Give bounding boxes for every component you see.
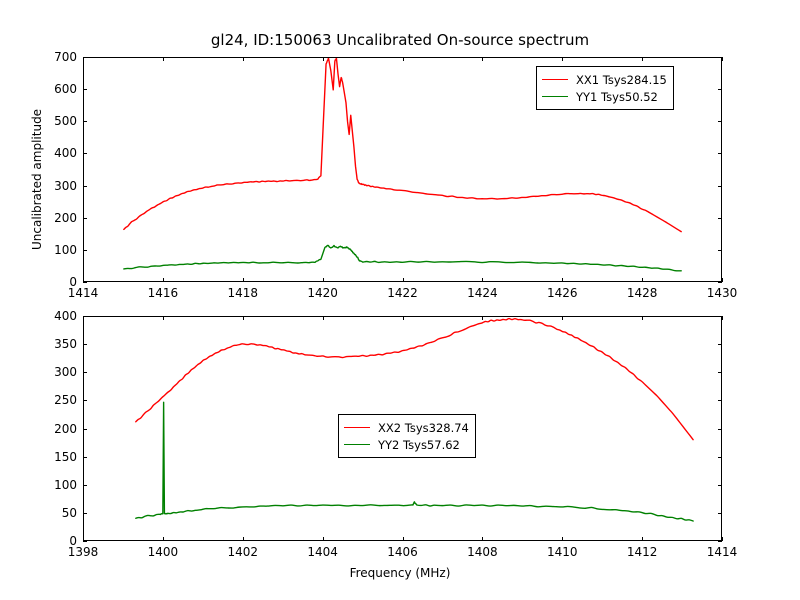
y-tick-mark <box>83 218 87 219</box>
y-tick-mark <box>718 282 722 283</box>
x-tick-label: 1418 <box>227 286 258 300</box>
y-axis-label: Uncalibrated amplitude <box>30 109 44 250</box>
x-tick-mark <box>243 537 244 541</box>
x-tick-label: 1398 <box>68 545 99 559</box>
x-tick-mark <box>722 278 723 282</box>
legend-label-yy2: YY2 Tsys57.62 <box>378 438 460 452</box>
y-tick-mark <box>718 121 722 122</box>
x-tick-label: 1410 <box>547 545 578 559</box>
y-tick-mark <box>718 429 722 430</box>
top-legend: XX1 Tsys284.15 YY1 Tsys50.52 <box>536 66 674 110</box>
x-tick-label: 1430 <box>707 286 738 300</box>
x-tick-mark <box>163 537 164 541</box>
series-line-yy1 <box>124 245 681 270</box>
y-tick-label: 100 <box>54 243 77 257</box>
x-tick-mark <box>83 316 84 320</box>
x-tick-mark <box>403 316 404 320</box>
legend-entry: YY1 Tsys50.52 <box>542 88 667 105</box>
x-tick-mark <box>482 278 483 282</box>
legend-line-swatch-xx1 <box>542 79 568 80</box>
legend-label-xx1: XX1 Tsys284.15 <box>576 73 667 87</box>
y-tick-mark <box>83 372 87 373</box>
y-tick-mark <box>718 218 722 219</box>
x-tick-label: 1402 <box>227 545 258 559</box>
x-tick-mark <box>163 316 164 320</box>
spectrum-figure: gl24, ID:150063 Uncalibrated On-source s… <box>0 0 800 600</box>
x-tick-mark <box>482 537 483 541</box>
x-tick-mark <box>722 57 723 61</box>
x-tick-mark <box>243 57 244 61</box>
x-axis-label: Frequency (MHz) <box>0 566 800 580</box>
y-tick-mark <box>83 429 87 430</box>
x-tick-mark <box>323 537 324 541</box>
y-tick-mark <box>83 89 87 90</box>
x-tick-mark <box>722 537 723 541</box>
x-tick-label: 1426 <box>547 286 578 300</box>
y-tick-mark <box>83 541 87 542</box>
y-tick-mark <box>718 513 722 514</box>
y-tick-mark <box>718 250 722 251</box>
x-tick-mark <box>163 278 164 282</box>
y-tick-mark <box>83 400 87 401</box>
x-tick-label: 1406 <box>387 545 418 559</box>
x-tick-mark <box>83 537 84 541</box>
y-tick-mark <box>83 513 87 514</box>
y-tick-label: 350 <box>54 337 77 351</box>
legend-entry: XX2 Tsys328.74 <box>344 419 469 436</box>
x-tick-mark <box>83 278 84 282</box>
x-tick-mark <box>482 316 483 320</box>
x-tick-label: 1404 <box>307 545 338 559</box>
y-tick-mark <box>718 485 722 486</box>
x-tick-mark <box>642 537 643 541</box>
x-tick-mark <box>243 278 244 282</box>
x-tick-mark <box>163 57 164 61</box>
y-tick-mark <box>83 457 87 458</box>
bottom-legend: XX2 Tsys328.74 YY2 Tsys57.62 <box>338 414 476 458</box>
x-tick-label: 1414 <box>707 545 738 559</box>
y-tick-mark <box>718 400 722 401</box>
y-tick-label: 600 <box>54 82 77 96</box>
y-tick-mark <box>83 485 87 486</box>
x-tick-mark <box>323 278 324 282</box>
y-tick-label: 400 <box>54 146 77 160</box>
x-tick-mark <box>323 57 324 61</box>
x-tick-mark <box>562 57 563 61</box>
y-tick-label: 400 <box>54 309 77 323</box>
legend-line-swatch-xx2 <box>344 427 370 428</box>
x-tick-mark <box>642 316 643 320</box>
x-tick-mark <box>403 537 404 541</box>
y-tick-mark <box>83 282 87 283</box>
y-tick-label: 700 <box>54 50 77 64</box>
x-tick-mark <box>323 316 324 320</box>
x-tick-mark <box>243 316 244 320</box>
y-tick-label: 150 <box>54 450 77 464</box>
legend-label-xx2: XX2 Tsys328.74 <box>378 421 469 435</box>
x-tick-mark <box>562 316 563 320</box>
x-tick-label: 1412 <box>627 545 658 559</box>
y-tick-mark <box>718 344 722 345</box>
x-tick-mark <box>83 57 84 61</box>
y-tick-mark <box>718 372 722 373</box>
figure-title: gl24, ID:150063 Uncalibrated On-source s… <box>0 31 800 49</box>
y-tick-label: 100 <box>54 478 77 492</box>
legend-entry: YY2 Tsys57.62 <box>344 436 469 453</box>
y-tick-label: 300 <box>54 179 77 193</box>
y-tick-mark <box>718 153 722 154</box>
y-tick-label: 50 <box>62 506 77 520</box>
y-tick-mark <box>83 344 87 345</box>
y-tick-mark <box>718 186 722 187</box>
x-tick-label: 1400 <box>148 545 179 559</box>
y-tick-label: 200 <box>54 422 77 436</box>
legend-line-swatch-yy2 <box>344 444 370 445</box>
legend-label-yy1: YY1 Tsys50.52 <box>576 90 658 104</box>
y-tick-label: 250 <box>54 393 77 407</box>
x-tick-mark <box>482 57 483 61</box>
legend-line-swatch-yy1 <box>542 96 568 97</box>
y-tick-mark <box>83 250 87 251</box>
x-tick-mark <box>562 537 563 541</box>
x-tick-mark <box>562 278 563 282</box>
y-tick-label: 300 <box>54 365 77 379</box>
x-tick-mark <box>722 316 723 320</box>
y-tick-mark <box>718 89 722 90</box>
y-tick-label: 500 <box>54 114 77 128</box>
x-tick-mark <box>642 57 643 61</box>
x-tick-mark <box>403 57 404 61</box>
y-tick-mark <box>718 541 722 542</box>
x-tick-label: 1414 <box>68 286 99 300</box>
y-tick-mark <box>718 457 722 458</box>
x-tick-label: 1428 <box>627 286 658 300</box>
y-tick-mark <box>83 121 87 122</box>
x-tick-mark <box>403 278 404 282</box>
x-tick-label: 1408 <box>467 545 498 559</box>
x-tick-label: 1424 <box>467 286 498 300</box>
x-tick-label: 1416 <box>148 286 179 300</box>
y-tick-mark <box>83 186 87 187</box>
y-tick-label: 200 <box>54 211 77 225</box>
x-tick-label: 1420 <box>307 286 338 300</box>
legend-entry: XX1 Tsys284.15 <box>542 71 667 88</box>
x-tick-mark <box>642 278 643 282</box>
x-tick-label: 1422 <box>387 286 418 300</box>
y-tick-mark <box>83 153 87 154</box>
